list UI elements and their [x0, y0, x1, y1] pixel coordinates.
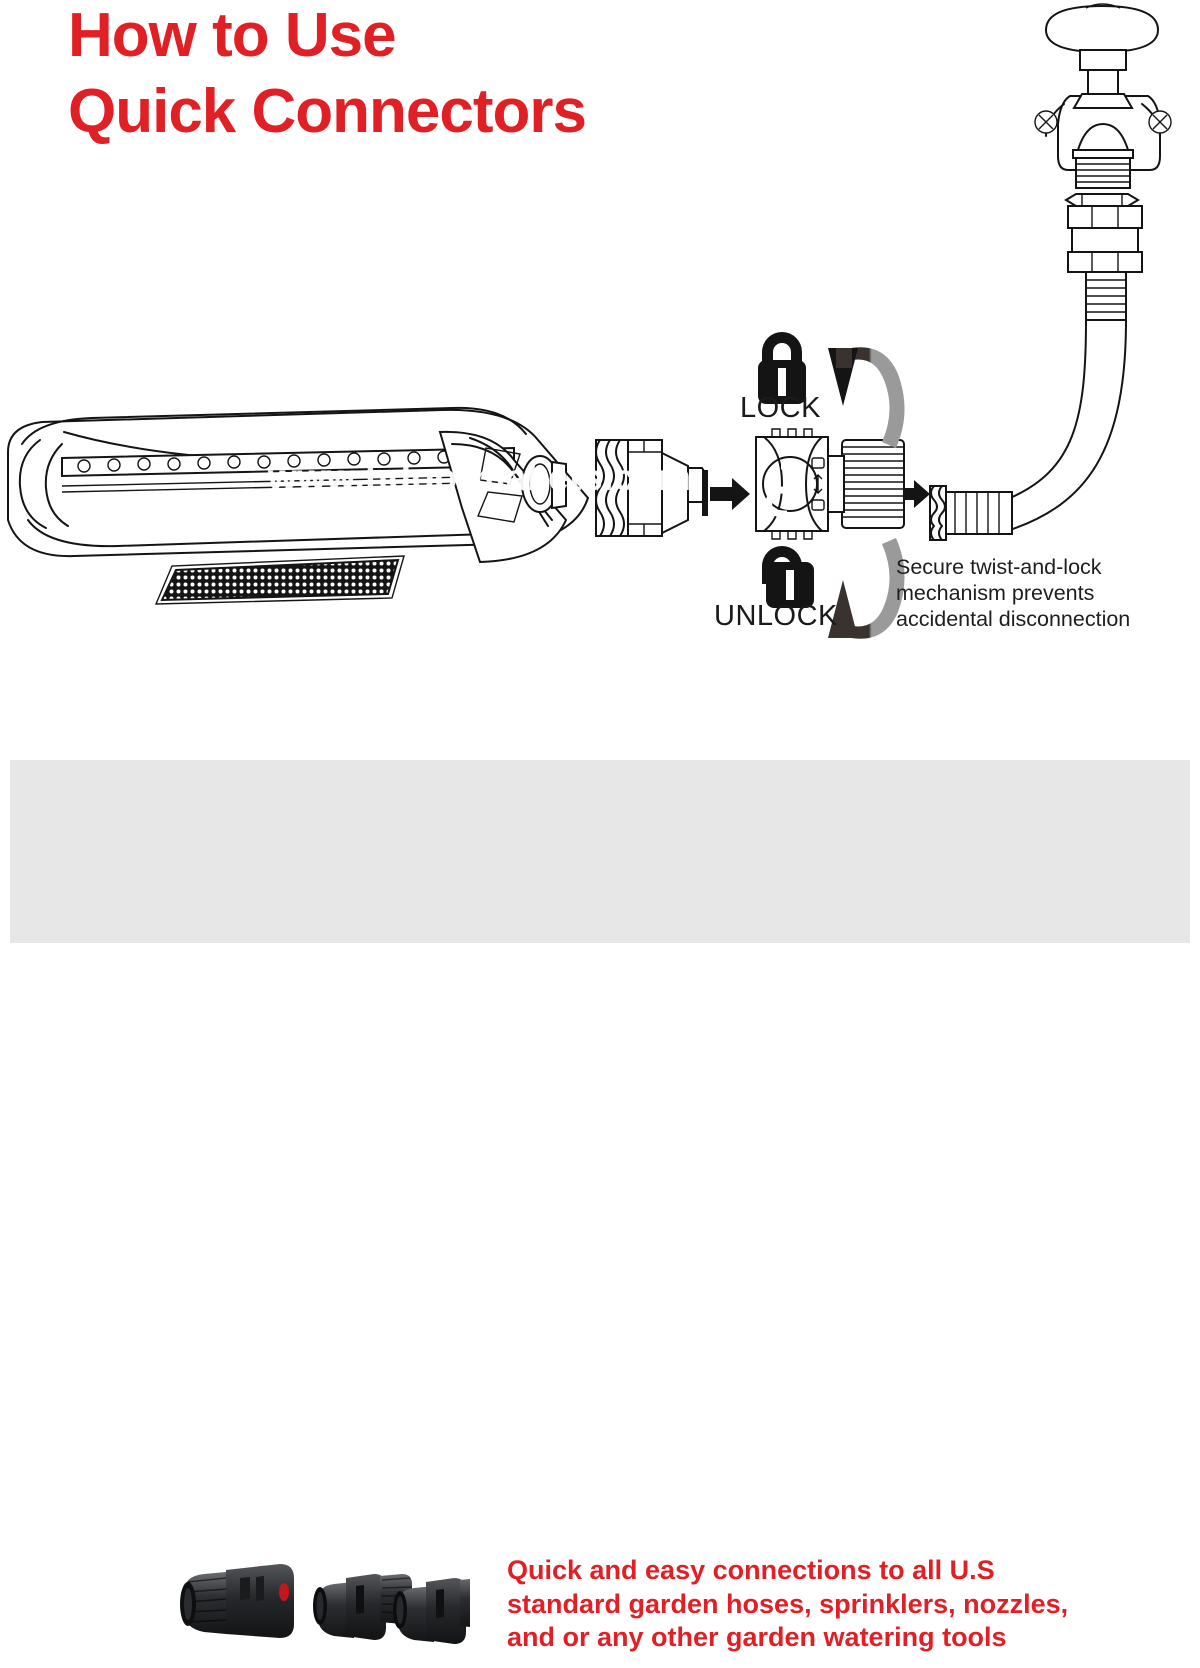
curved-arrow-up-icon — [828, 538, 905, 639]
bottom-caption-line-2: standard garden hoses, sprinklers, nozzl… — [507, 1588, 1107, 1622]
bottom-caption-line-3: and or any other garden watering tools — [507, 1621, 1107, 1655]
bottom-caption-line-1: Quick and easy connections to all U.S — [507, 1554, 1107, 1588]
male-hose-adapter — [596, 440, 708, 536]
assembly-diagram: .ln{fill:none;stroke:#141414;stroke-widt… — [0, 0, 1200, 760]
padlock-open-icon — [762, 546, 814, 608]
product-photo-quick-connectors — [170, 1548, 470, 1668]
curved-arrow-down-icon — [828, 347, 905, 448]
secure-mechanism-note: Secure twist-and-lock mechanism prevents… — [896, 554, 1196, 632]
quick-connector-coupling — [756, 429, 904, 539]
bottom-feature-panel: Quick and easy connections to all U.S st… — [10, 760, 1190, 943]
oscillating-sprinkler — [8, 408, 588, 604]
unlock-label: UNLOCK — [714, 600, 838, 633]
assembly-arrow-center — [710, 478, 750, 510]
lock-label: LOCK — [740, 392, 821, 425]
infographic-page: How to Use Quick Connectors .ln{fill:non… — [0, 0, 1200, 951]
garden-hose-with-faucet — [930, 206, 1142, 540]
outdoor-faucet-spigot — [1035, 4, 1171, 206]
quick-connector-red-stop — [180, 1564, 294, 1638]
bottom-caption: Quick and easy connections to all U.S st… — [507, 1554, 1107, 1655]
